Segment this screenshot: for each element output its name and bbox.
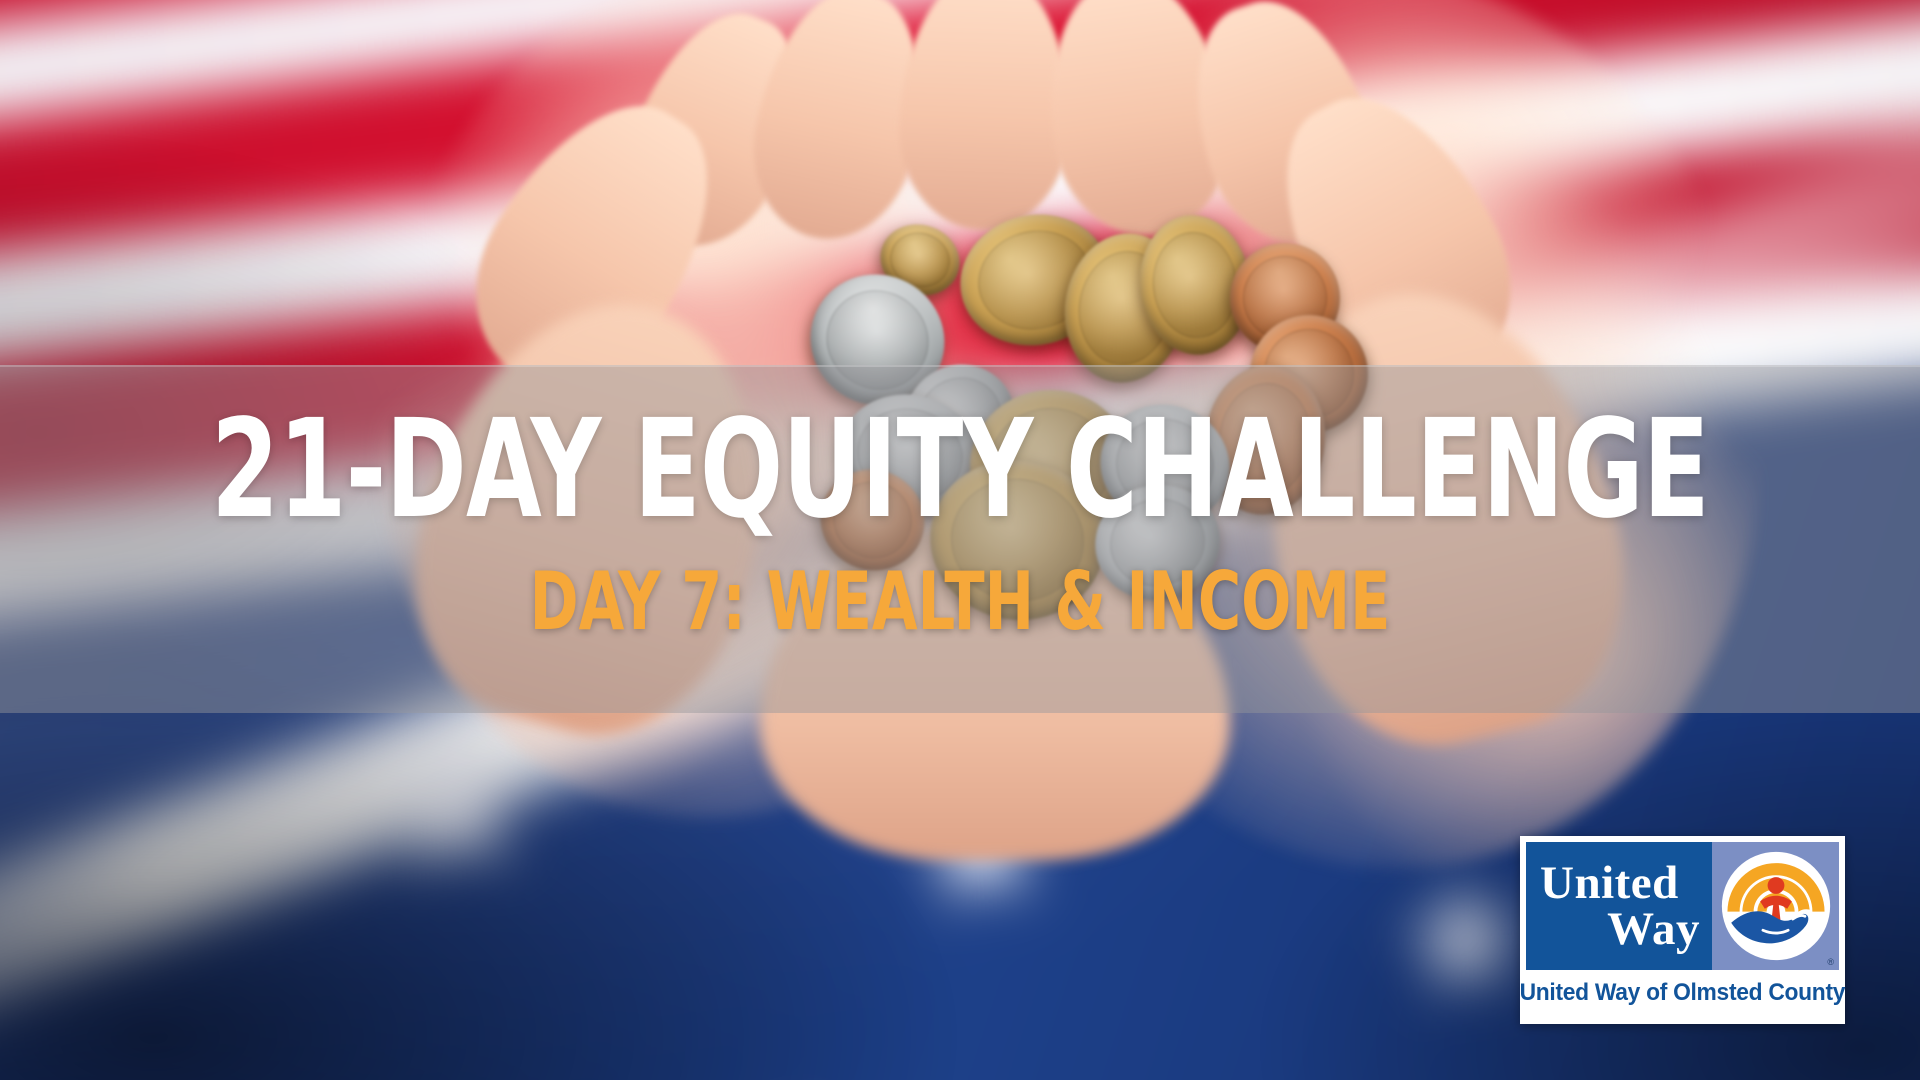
logo-word-way: Way: [1607, 906, 1712, 952]
logo-affiliate-name: United Way of Olmsted County: [1520, 979, 1846, 1007]
page-title: 21-DAY EQUITY CHALLENGE: [192, 402, 1728, 538]
promo-graphic: ★ ★ ★ ★ ★: [0, 0, 1920, 1080]
united-way-rainbow-person-hand-icon: [1720, 850, 1832, 962]
logo-mark-panel: ®: [1712, 842, 1839, 970]
registered-trademark-icon: ®: [1827, 957, 1834, 967]
logo-affiliate-strip: United Way of Olmsted County: [1526, 970, 1839, 1016]
united-way-logo[interactable]: United Way ® United: [1520, 836, 1845, 1024]
page-subtitle: DAY 7: WEALTH & INCOME: [173, 562, 1747, 642]
band-top-edge: [0, 365, 1920, 367]
logo-wordmark-panel: United Way: [1526, 842, 1712, 970]
logo-word-united: United: [1540, 860, 1712, 906]
